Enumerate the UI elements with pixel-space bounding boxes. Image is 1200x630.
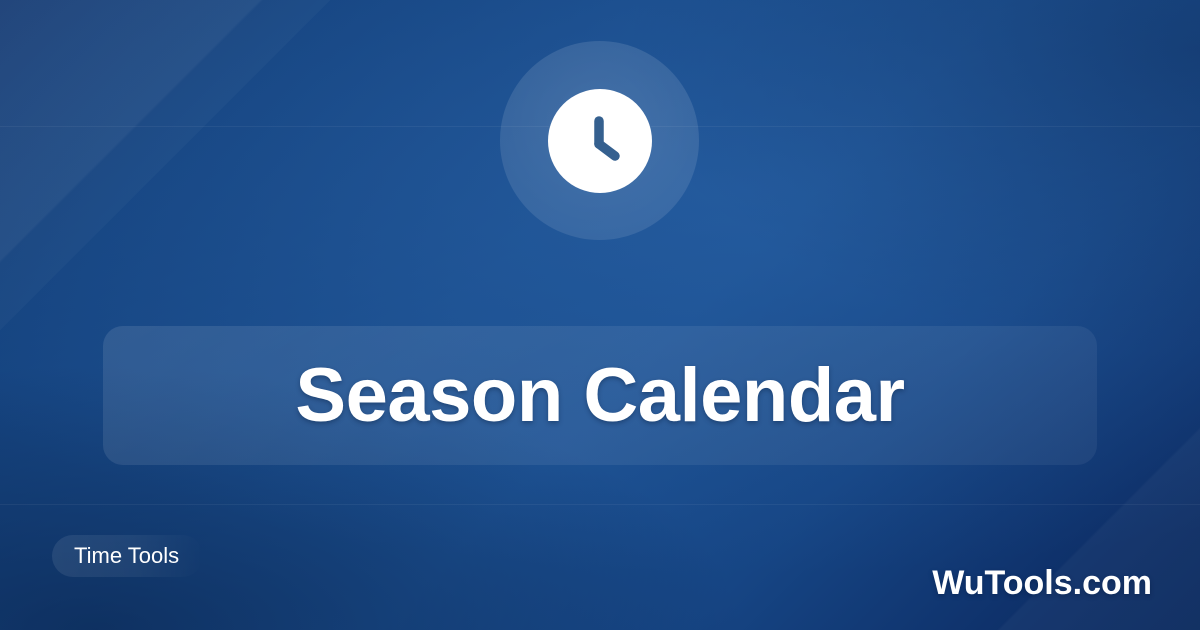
clock-icon — [548, 89, 652, 193]
brand-wordmark: WuTools.com — [932, 566, 1152, 600]
og-card-canvas: Season Calendar Time Tools WuTools.com — [0, 0, 1200, 630]
diagonal-highlight-top-left — [0, 0, 560, 600]
clock-icon-halo — [500, 41, 699, 240]
category-badge: Time Tools — [52, 535, 203, 577]
horizontal-rule-lower — [0, 504, 1200, 505]
category-badge-label: Time Tools — [74, 545, 179, 567]
title-card: Season Calendar — [103, 326, 1097, 465]
page-title: Season Calendar — [295, 358, 904, 434]
